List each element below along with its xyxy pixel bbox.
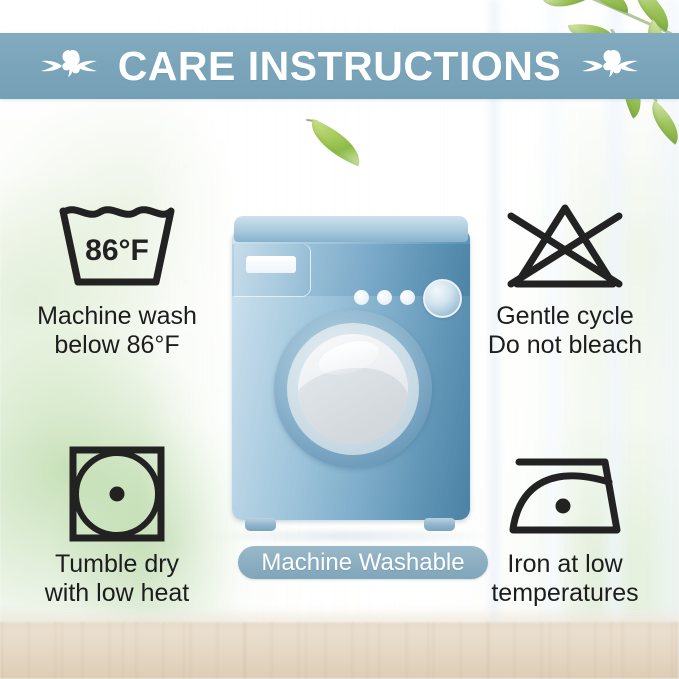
fleur-de-lis-left-icon — [38, 46, 100, 86]
machine-drawer-slot — [246, 256, 296, 273]
care-item-tumble-dry: Tumble dry with low heat — [12, 444, 222, 608]
machine-foot — [424, 518, 455, 531]
page-title: CARE INSTRUCTIONS — [118, 46, 562, 87]
machine-drum-window — [298, 334, 408, 444]
machine-drum-swirl — [298, 368, 408, 444]
crossed-triangle-icon — [460, 196, 670, 296]
care-item-machine-wash: 86°F Machine wash below 86°F — [12, 196, 222, 360]
machine-door-ring — [287, 323, 419, 455]
washing-machine-illustration — [232, 216, 470, 532]
machine-dial-knob — [423, 279, 462, 318]
care-item-do-not-bleach: Gentle cycle Do not bleach — [460, 196, 670, 360]
badge-label: Machine Washable — [261, 551, 464, 575]
table-edge — [0, 608, 679, 622]
care-item-caption: Machine wash below 86°F — [12, 302, 222, 360]
machine-button — [377, 290, 392, 305]
tumble-dry-icon — [12, 444, 222, 544]
machine-button — [400, 290, 415, 305]
wash-tub-icon: 86°F — [12, 196, 222, 296]
wash-temperature-value: 86°F — [85, 234, 149, 267]
machine-door — [274, 310, 432, 468]
machine-washable-badge: Machine Washable — [238, 546, 488, 579]
header-banner: CARE INSTRUCTIONS — [0, 33, 679, 99]
wooden-table-surface — [0, 622, 679, 679]
care-item-caption: Iron at low temperatures — [460, 550, 670, 608]
care-instructions-infographic: CARE INSTRUCTIONS 86°F Machine wash belo… — [0, 0, 679, 679]
care-item-caption: Tumble dry with low heat — [12, 550, 222, 608]
care-item-caption: Gentle cycle Do not bleach — [460, 302, 670, 360]
machine-foot — [245, 518, 276, 531]
machine-button — [354, 290, 369, 305]
care-item-iron: Iron at low temperatures — [460, 444, 670, 608]
fleur-de-lis-right-icon — [579, 46, 641, 86]
machine-detergent-drawer — [234, 244, 310, 296]
machine-top-lid — [234, 216, 468, 242]
